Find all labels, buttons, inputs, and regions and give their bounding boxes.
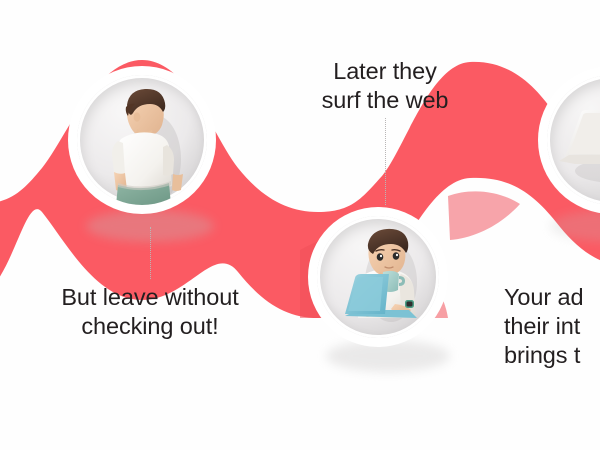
step-2-connector (385, 118, 386, 205)
infographic-canvas: But leave without checking out! Later th… (0, 0, 600, 450)
step-1-caption: But leave without checking out! (14, 283, 286, 341)
step-3-disc (547, 75, 600, 205)
laptop-on-desk-illustration (547, 75, 600, 205)
step-2-disc (317, 216, 439, 338)
step-1-disc (77, 75, 207, 205)
step-2-caption: Later they surf the web (285, 57, 485, 115)
person-standing-back-view-illustration (77, 75, 207, 205)
step-1-circle (68, 66, 216, 214)
step-1-connector (150, 227, 151, 279)
person-at-laptop-with-mug-illustration (317, 216, 439, 338)
step-3-caption: Your ad their int brings t (504, 283, 600, 370)
step-2-circle (308, 207, 448, 347)
